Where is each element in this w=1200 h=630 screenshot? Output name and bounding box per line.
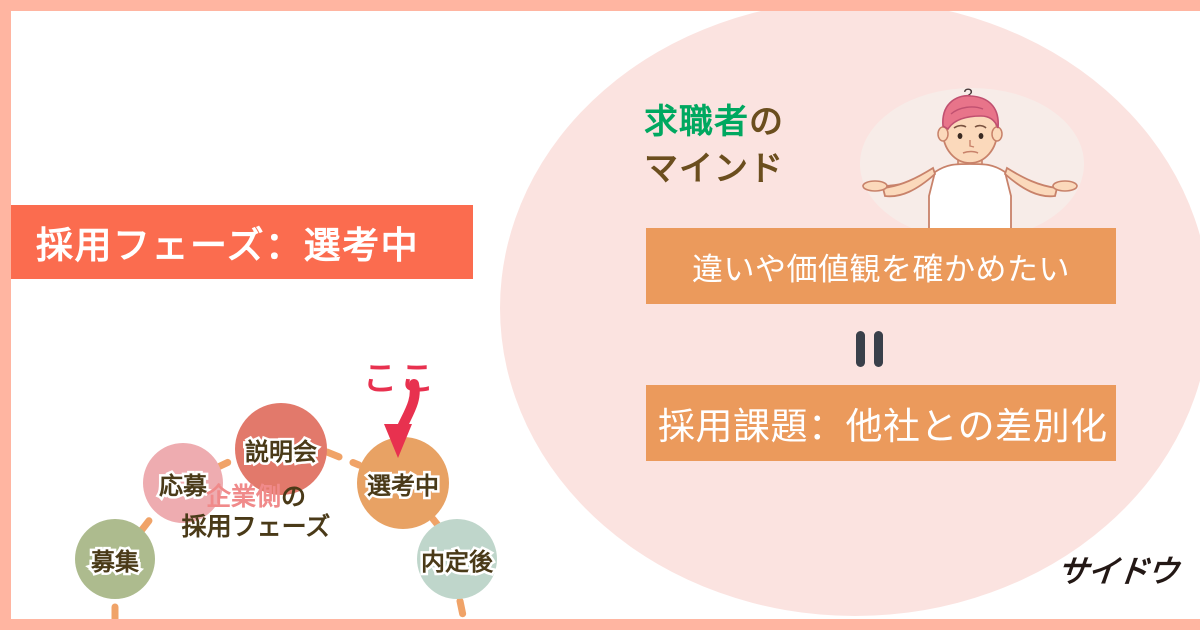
phase-label-setsumeikai-wrap: 説明会: [223, 403, 339, 495]
brand-logo[interactable]: サイドウ: [1056, 546, 1181, 591]
caption-particle: の: [281, 483, 306, 511]
page-title: 採用フェーズ：選考中: [11, 215, 419, 269]
phase-label-naiteigo-wrap: 内定後: [399, 519, 515, 599]
mind-heading-highlight: 求職者: [644, 103, 749, 141]
mind-heading-line2: マインド: [644, 146, 784, 193]
equals-bar-left: [856, 331, 865, 367]
canvas: 採用フェーズ：選考中 募集 応募: [11, 11, 1200, 619]
recruitment-issue-label: 採用課題：他社との差別化: [646, 396, 1108, 450]
shrugging-person-illustration: ?: [855, 76, 1085, 241]
page-frame: 採用フェーズ：選考中 募集 応募: [0, 0, 1200, 630]
curved-down-arrow-icon: [356, 376, 446, 476]
equals-symbol: [849, 329, 889, 369]
diagram-center-caption: 企業側の 採用フェーズ: [131, 483, 381, 542]
recruitment-issue-box: 採用課題：他社との差別化: [646, 385, 1116, 461]
mind-statement-box: 違いや価値観を確かめたい: [646, 228, 1116, 304]
title-banner: 採用フェーズ：選考中: [11, 205, 473, 279]
phase-label-setsumeikai: 説明会: [245, 432, 317, 467]
phase-label-naiteigo: 内定後: [421, 542, 493, 577]
mind-statement-label: 違いや価値観を確かめたい: [692, 244, 1070, 289]
mind-heading-particle: の: [749, 103, 784, 141]
caption-line2: 採用フェーズ: [131, 513, 381, 543]
caption-highlight: 企業側: [206, 483, 281, 511]
mind-heading: 求職者の マインド: [644, 99, 784, 193]
equals-bar-right: [874, 331, 883, 367]
phase-label-boshu: 募集: [91, 542, 139, 577]
jobseeker-mind-panel: 求職者の マインド ?: [500, 11, 1200, 619]
recruitment-phase-diagram: 募集 応募 説明会 選考中 内定後 企業側の: [11, 331, 500, 619]
